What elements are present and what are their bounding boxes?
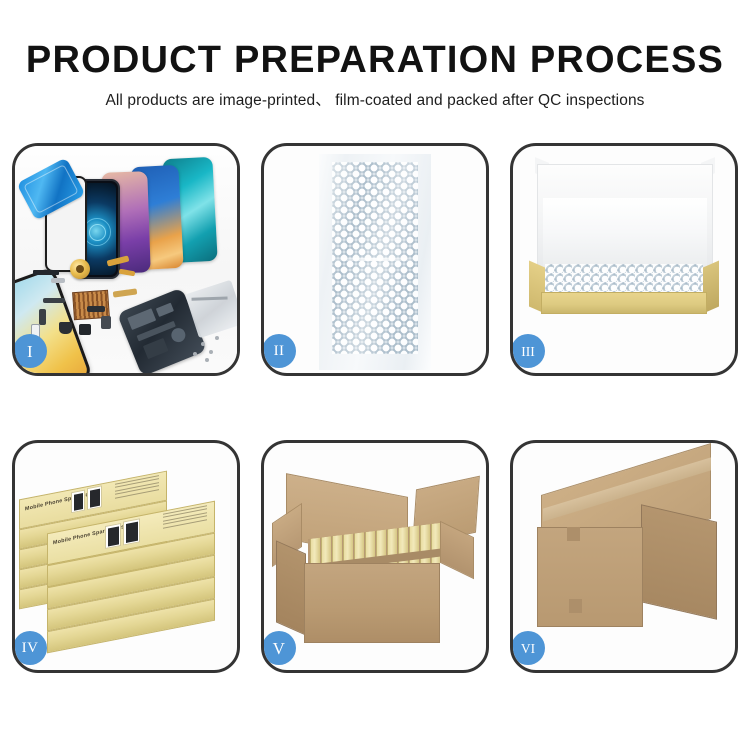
connector-part [39,309,46,325]
step-2-image [264,146,486,373]
wallpaper-ring-inner [89,224,106,241]
gold-coil-part [70,259,90,279]
product-preparation-infographic: PRODUCT PREPARATION PROCESS All products… [0,0,750,750]
flex-cable-part [33,270,59,275]
speaker-part [59,322,72,334]
foam-sheet [543,198,707,266]
carton-front-wall [537,527,643,627]
antenna-part [87,306,105,312]
flex-cable-part [43,298,65,303]
step-1-image [15,146,237,373]
header: PRODUCT PREPARATION PROCESS All products… [0,0,750,111]
carton-handle-notch [569,599,582,613]
process-step-grid: I II [12,143,738,681]
step-badge-1: I [13,334,47,368]
camera-part [79,324,91,335]
page-title: PRODUCT PREPARATION PROCESS [0,0,750,82]
bubble-pouch-inner [332,162,418,354]
step-badge-4: IV [13,631,47,665]
process-step-6[interactable]: VI [510,440,738,673]
carton-side-wall [641,504,717,620]
screw-part [209,350,213,354]
process-step-1[interactable]: I [12,143,240,376]
box-stack: Mobile Phone Spare Parts Mobile Phone Sp… [15,443,237,670]
step-badge-3: III [511,334,545,368]
screw-part [201,342,205,346]
screw-part [193,352,197,356]
step-badge-2: II [262,334,296,368]
process-step-2[interactable]: II [261,143,489,376]
step-badge-6: VI [511,631,545,665]
bubble-wrapped-contents [545,264,703,294]
process-step-4[interactable]: Mobile Phone Spare Parts Mobile Phone Sp… [12,440,240,673]
box-window-screen [71,490,85,514]
carton-handle-notch [567,527,580,541]
step-5-image [264,443,486,670]
small-metal-part [51,278,65,283]
step-badge-5: V [262,631,296,665]
box-window-screen [123,518,140,545]
box-front-wall [541,292,707,314]
process-step-3[interactable]: III [510,143,738,376]
screw-part [215,336,219,340]
process-step-5[interactable]: V [261,440,489,673]
screw-part [205,358,209,362]
carton-front-wall [304,563,440,643]
step-6-image [513,443,735,670]
page-subtitle: All products are image-printed、 film-coa… [0,82,750,111]
bubble-grid [545,264,703,294]
carton-left-wall [276,540,306,635]
box-window-screen [105,523,121,549]
box-window-screen [87,485,102,510]
box-spec-lines [163,505,207,531]
plastic-sheen [332,162,418,354]
step-3-image [513,146,735,373]
battery-part [101,316,111,329]
box-spec-lines [115,475,159,501]
step-4-image: Mobile Phone Spare Parts Mobile Phone Sp… [15,443,237,670]
box-label-text: Mobile Phone Spare Parts [25,490,96,512]
